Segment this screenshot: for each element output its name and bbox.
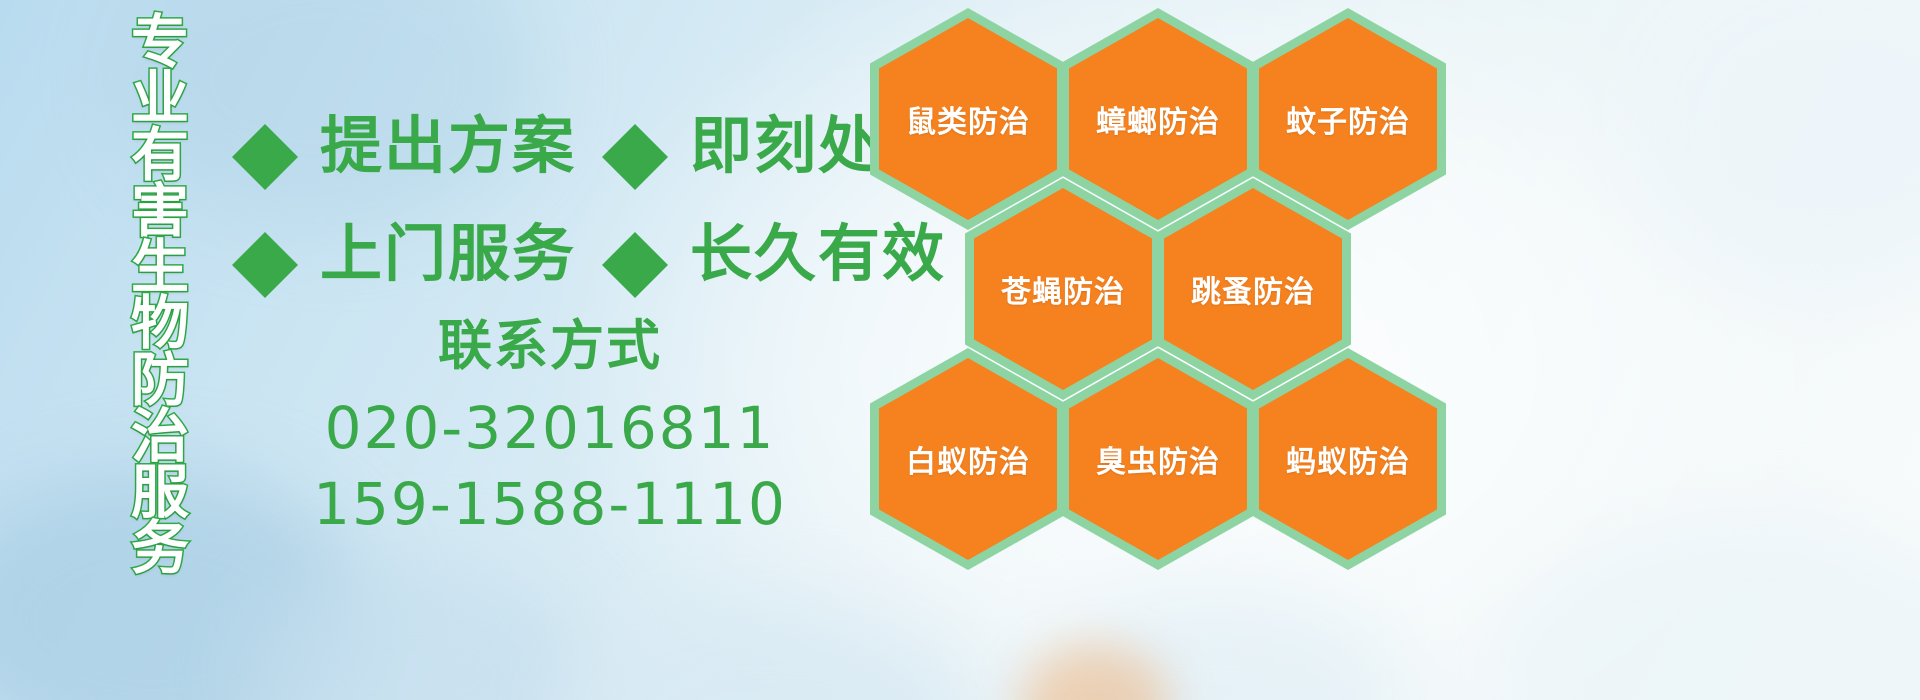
vertical-headline-char: 防 bbox=[131, 352, 189, 408]
vertical-headline-char: 专 bbox=[131, 14, 189, 70]
vertical-headline-char: 治 bbox=[131, 408, 189, 464]
hex-cell-label: 鼠类防治 bbox=[906, 97, 1030, 141]
background-blur-blob bbox=[1640, 0, 1920, 290]
service-honeycomb: 鼠类防治 蟑螂防治 蚊子防治 苍蝇防治 跳蚤防治 白蚁防治 臭虫防治 bbox=[862, 0, 1462, 700]
hex-cell-label: 苍蝇防治 bbox=[1001, 267, 1125, 311]
diamond-bullet-icon bbox=[232, 199, 298, 265]
vertical-headline-char: 生 bbox=[131, 239, 189, 295]
hex-cell-label: 蚂蚁防治 bbox=[1286, 437, 1410, 481]
pest-control-banner: 专 业 有 害 生 物 防 治 服 务 提出方案 即刻处理 上门服务 长久有效 … bbox=[0, 0, 1920, 700]
contact-phone-landline[interactable]: 020-32016811 bbox=[300, 390, 800, 467]
vertical-headline-char: 服 bbox=[131, 464, 189, 520]
hex-cell-label: 臭虫防治 bbox=[1096, 437, 1220, 481]
vertical-headline-char: 业 bbox=[131, 70, 189, 126]
diamond-bullet-icon bbox=[602, 91, 668, 157]
contact-block: 联系方式 020-32016811 159-1588-1110 bbox=[300, 312, 800, 543]
vertical-headline-char: 务 bbox=[131, 520, 189, 576]
feature-list: 提出方案 即刻处理 上门服务 长久有效 bbox=[232, 86, 872, 302]
hex-cell-label: 蟑螂防治 bbox=[1096, 97, 1220, 141]
background-blur-blob bbox=[1500, 520, 1920, 700]
feature-label: 提出方案 bbox=[320, 95, 576, 185]
vertical-headline-char: 有 bbox=[131, 127, 189, 183]
contact-phone-mobile[interactable]: 159-1588-1110 bbox=[300, 466, 800, 543]
hex-cell-label: 白蚁防治 bbox=[906, 437, 1030, 481]
vertical-headline-char: 物 bbox=[131, 295, 189, 351]
feature-row: 提出方案 即刻处理 bbox=[232, 86, 872, 194]
hex-cell-label: 跳蚤防治 bbox=[1191, 267, 1315, 311]
contact-title: 联系方式 bbox=[300, 312, 800, 380]
vertical-headline-char: 害 bbox=[131, 183, 189, 239]
feature-label: 上门服务 bbox=[320, 203, 576, 293]
diamond-bullet-icon bbox=[602, 199, 668, 265]
hex-cell-label: 蚊子防治 bbox=[1286, 97, 1410, 141]
vertical-headline: 专 业 有 害 生 物 防 治 服 务 bbox=[108, 14, 212, 577]
background-blur-blob bbox=[250, 560, 590, 700]
feature-row: 上门服务 长久有效 bbox=[232, 194, 872, 302]
diamond-bullet-icon bbox=[232, 91, 298, 157]
